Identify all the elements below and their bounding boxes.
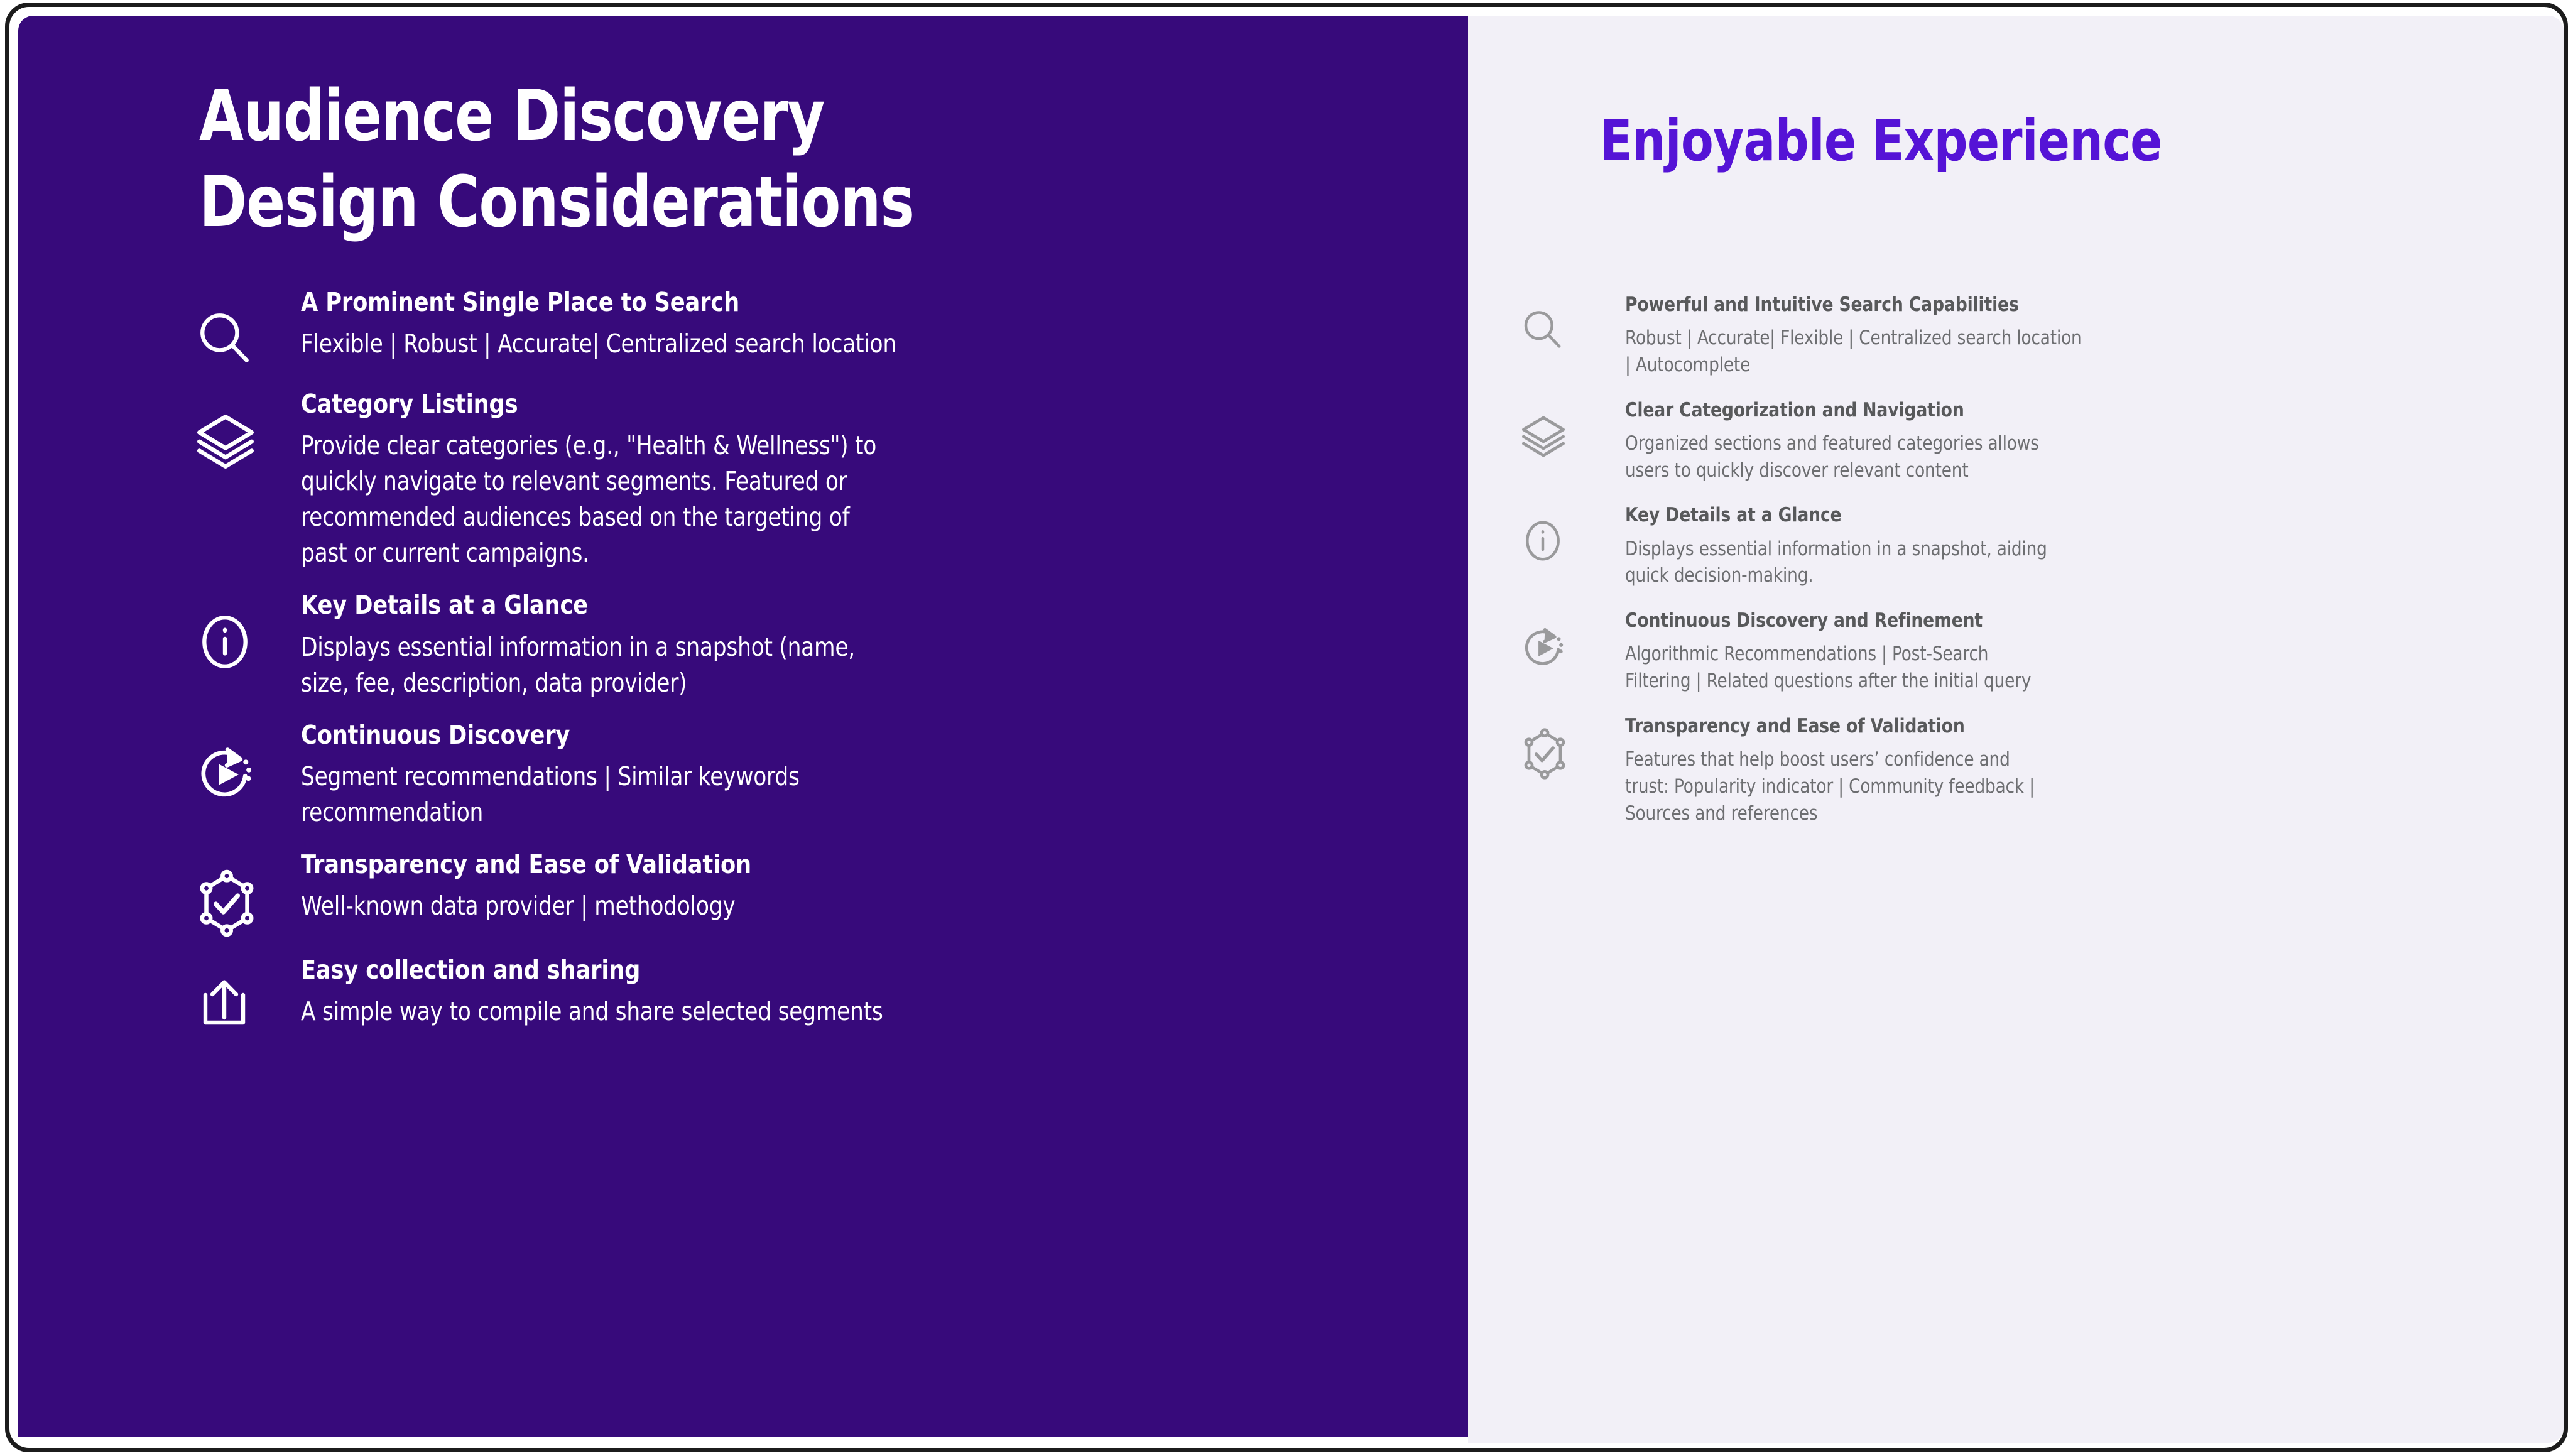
info-icon: [194, 590, 301, 673]
list-item-heading: Key Details at a Glance: [301, 590, 1225, 620]
list-item-description: Algorithmic Recommendations | Post-Searc…: [1625, 641, 2368, 695]
list-item: Transparency and Ease of Validation Feat…: [1520, 715, 2500, 827]
list-item-description: Organized sections and featured categori…: [1625, 430, 2368, 484]
list-item-heading: Category Listings: [301, 389, 1225, 419]
list-item-body: Transparency and Ease of Validation Feat…: [1625, 715, 2500, 827]
list-item-heading: Continuous Discovery and Refinement: [1625, 609, 2377, 633]
list-item: Continuous Discovery and Refinement Algo…: [1520, 609, 2500, 695]
slide-frame: Audience Discovery Design Considerations…: [5, 3, 2568, 1452]
list-item-description: Displays essential information in a snap…: [301, 629, 1203, 701]
list-item: Clear Categorization and Navigation Orga…: [1520, 399, 2500, 484]
list-item: Key Details at a Glance Displays essenti…: [1520, 504, 2500, 589]
search-icon: [194, 287, 301, 370]
list-item-description: Provide clear categories (e.g., "Health …: [301, 428, 1203, 571]
list-item: Transparency and Ease of Validation Well…: [194, 849, 1375, 936]
list-item-heading: A Prominent Single Place to Search: [301, 287, 1225, 317]
verified-badge-icon: [1520, 715, 1625, 779]
list-item-body: Key Details at a Glance Displays essenti…: [301, 590, 1375, 700]
left-panel-audience-discovery: Audience Discovery Design Considerations…: [18, 16, 1468, 1437]
left-panel-title: Audience Discovery Design Considerations: [199, 73, 914, 245]
list-item-description: Features that help boost users’ confiden…: [1625, 746, 2368, 827]
list-item-description: Robust | Accurate| Flexible | Centralize…: [1625, 325, 2368, 379]
right-panel-enjoyable-experience: Enjoyable Experience Powerful and Intuit…: [1468, 16, 2564, 1443]
list-item-description: Well-known data provider | methodology: [301, 888, 1203, 924]
list-item: Easy collection and sharing A simple way…: [194, 955, 1375, 1036]
share-icon: [194, 955, 301, 1036]
left-considerations-list: A Prominent Single Place to Search Flexi…: [194, 287, 1375, 1055]
list-item-heading: Transparency and Ease of Validation: [301, 849, 1225, 879]
list-item-heading: Continuous Discovery: [301, 720, 1225, 750]
list-item-body: A Prominent Single Place to Search Flexi…: [301, 287, 1375, 362]
layers-icon: [194, 389, 301, 473]
right-experience-list: Powerful and Intuitive Search Capabiliti…: [1520, 293, 2500, 847]
list-item-body: Clear Categorization and Navigation Orga…: [1625, 399, 2500, 484]
list-item-body: Transparency and Ease of Validation Well…: [301, 849, 1375, 924]
list-item-description: Flexible | Robust | Accurate| Centralize…: [301, 326, 1203, 362]
list-item-body: Category Listings Provide clear categori…: [301, 389, 1375, 571]
list-item-description: Segment recommendations | Similar keywor…: [301, 759, 1203, 830]
list-item-body: Key Details at a Glance Displays essenti…: [1625, 504, 2500, 589]
list-item-heading: Powerful and Intuitive Search Capabiliti…: [1625, 293, 2377, 317]
continuous-discovery-icon: [194, 720, 301, 804]
list-item-heading: Clear Categorization and Navigation: [1625, 399, 2377, 422]
list-item-body: Continuous Discovery Segment recommendat…: [301, 720, 1375, 830]
list-item: Category Listings Provide clear categori…: [194, 389, 1375, 571]
list-item-heading: Easy collection and sharing: [301, 955, 1225, 985]
list-item: A Prominent Single Place to Search Flexi…: [194, 287, 1375, 370]
continuous-discovery-icon: [1520, 609, 1625, 671]
info-icon: [1520, 504, 1625, 564]
right-panel-title: Enjoyable Experience: [1600, 110, 2162, 172]
layers-icon: [1520, 399, 1625, 460]
list-item-body: Easy collection and sharing A simple way…: [301, 955, 1375, 1030]
list-item: Powerful and Intuitive Search Capabiliti…: [1520, 293, 2500, 379]
panels-container: Audience Discovery Design Considerations…: [18, 16, 2564, 1443]
search-icon: [1520, 293, 1625, 354]
list-item-body: Powerful and Intuitive Search Capabiliti…: [1625, 293, 2500, 379]
verified-badge-icon: [194, 849, 301, 936]
list-item-heading: Transparency and Ease of Validation: [1625, 715, 2377, 738]
list-item-description: A simple way to compile and share select…: [301, 994, 1203, 1030]
list-item: Continuous Discovery Segment recommendat…: [194, 720, 1375, 830]
list-item-heading: Key Details at a Glance: [1625, 504, 2377, 527]
list-item: Key Details at a Glance Displays essenti…: [194, 590, 1375, 700]
list-item-body: Continuous Discovery and Refinement Algo…: [1625, 609, 2500, 695]
list-item-description: Displays essential information in a snap…: [1625, 536, 2368, 590]
